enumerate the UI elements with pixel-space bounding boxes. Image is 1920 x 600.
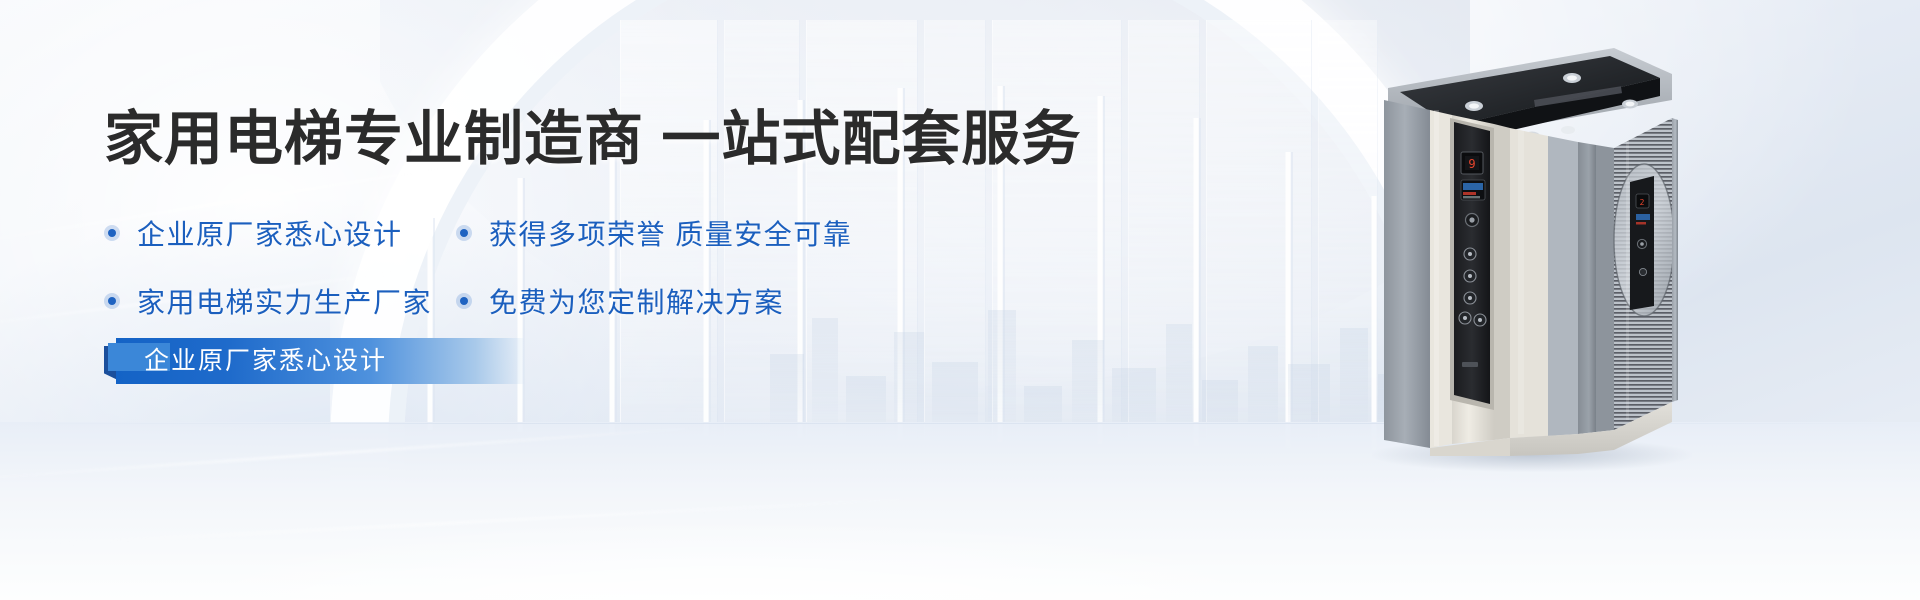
ribbon-label: 企业原厂家悉心设计 [144, 338, 387, 384]
home-elevator-image: 9 [1382, 44, 1678, 456]
list-item-label: 获得多项荣誉 质量安全可靠 [489, 213, 852, 253]
list-item: 企业原厂家悉心设计 [104, 213, 456, 253]
list-item: 家用电梯实力生产厂家 [104, 281, 456, 321]
list-item-label: 企业原厂家悉心设计 [137, 213, 403, 253]
banner-copy: 家用电梯专业制造商 一站式配套服务 企业原厂家悉心设计 获得多项荣誉 质量安全可… [104, 108, 1084, 321]
svg-text:9: 9 [1468, 157, 1475, 171]
list-item: 获得多项荣誉 质量安全可靠 [456, 213, 1084, 253]
list-item-label: 免费为您定制解决方案 [489, 281, 784, 321]
svg-text:2: 2 [1640, 198, 1645, 207]
feature-list: 企业原厂家悉心设计 获得多项荣誉 质量安全可靠 家用电梯实力生产厂家 免费为您定… [104, 213, 1084, 321]
promo-banner: 9 [0, 0, 1920, 600]
list-item-label: 家用电梯实力生产厂家 [137, 281, 432, 321]
bullet-dot-icon [104, 225, 120, 241]
bullet-dot-icon [456, 225, 472, 241]
list-item: 免费为您定制解决方案 [456, 281, 1084, 321]
highlight-ribbon: 企业原厂家悉心设计 [104, 338, 524, 384]
page-title: 家用电梯专业制造商 一站式配套服务 [104, 108, 1084, 171]
bullet-dot-icon [104, 293, 120, 309]
bullet-dot-icon [456, 293, 472, 309]
